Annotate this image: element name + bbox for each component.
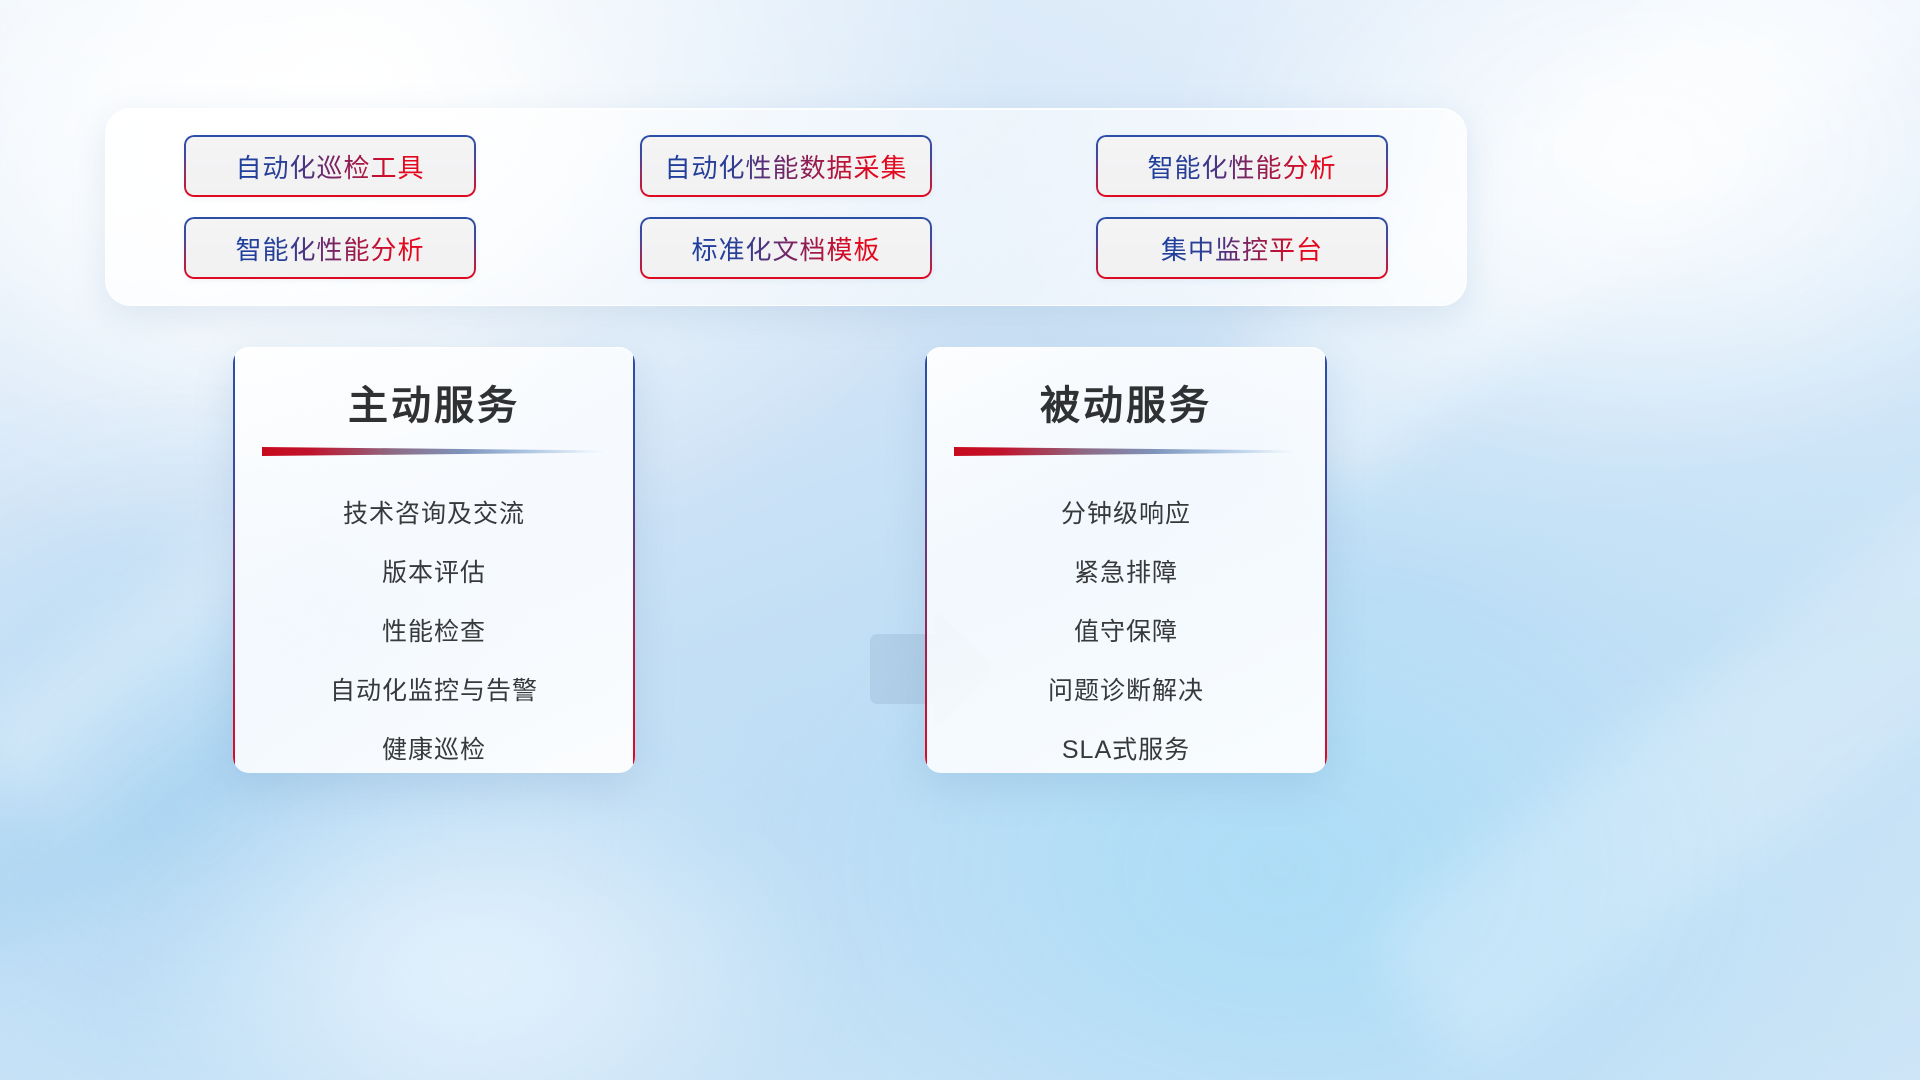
card-title: 主动服务	[233, 373, 635, 431]
list-item[interactable]: 健康巡检	[233, 718, 635, 773]
tag-automated-inspection-tool[interactable]: 自动化巡检工具	[184, 135, 476, 197]
background-blob-5	[120, 760, 820, 1080]
list-item[interactable]: 自动化监控与告警	[233, 659, 635, 718]
list-item[interactable]: 版本评估	[233, 541, 635, 600]
tag-automated-performance-data-collection[interactable]: 自动化性能数据采集	[640, 135, 932, 197]
card-edge-right	[1325, 347, 1327, 773]
card-edge-left	[233, 347, 235, 773]
tag-row-1: 自动化巡检工具 自动化性能数据采集 智能化性能分析	[184, 135, 1388, 197]
list-item[interactable]: 性能检查	[233, 600, 635, 659]
card-title-divider	[954, 447, 1298, 456]
tag-standardized-document-template[interactable]: 标准化文档模板	[640, 217, 932, 279]
card-title-divider	[262, 447, 606, 456]
list-item[interactable]: SLA式服务	[925, 718, 1327, 773]
list-item[interactable]: 技术咨询及交流	[233, 482, 635, 541]
capability-tag-panel: 自动化巡检工具 自动化性能数据采集 智能化性能分析 智能化性能分析 标准化文档模…	[105, 108, 1467, 306]
tag-label: 智能化性能分析	[235, 230, 424, 267]
service-card-active: 主动服务 技术咨询及交流 版本评估 性能检查 自动化监控与告警 健康巡检	[233, 347, 635, 773]
tag-label: 集中监控平台	[1161, 230, 1323, 267]
tag-label: 标准化文档模板	[691, 230, 880, 267]
tag-intelligent-performance-analysis-top[interactable]: 智能化性能分析	[1096, 135, 1388, 197]
tag-label: 智能化性能分析	[1147, 148, 1336, 185]
tag-row-2: 智能化性能分析 标准化文档模板 集中监控平台	[184, 217, 1388, 279]
card-edge-left	[925, 347, 927, 773]
list-item[interactable]: 问题诊断解决	[925, 659, 1327, 718]
service-card-passive: 被动服务 分钟级响应 紧急排障 值守保障 问题诊断解决 SLA式服务	[925, 347, 1327, 773]
list-item[interactable]: 紧急排障	[925, 541, 1327, 600]
tag-label: 自动化性能数据采集	[664, 148, 907, 185]
list-item[interactable]: 分钟级响应	[925, 482, 1327, 541]
card-edge-right	[633, 347, 635, 773]
tag-centralized-monitoring-platform[interactable]: 集中监控平台	[1096, 217, 1388, 279]
card-item-list: 技术咨询及交流 版本评估 性能检查 自动化监控与告警 健康巡检	[233, 482, 635, 773]
tag-intelligent-performance-analysis-bottom[interactable]: 智能化性能分析	[184, 217, 476, 279]
card-item-list: 分钟级响应 紧急排障 值守保障 问题诊断解决 SLA式服务	[925, 482, 1327, 773]
tag-label: 自动化巡检工具	[235, 148, 424, 185]
card-title: 被动服务	[925, 373, 1327, 431]
list-item[interactable]: 值守保障	[925, 600, 1327, 659]
